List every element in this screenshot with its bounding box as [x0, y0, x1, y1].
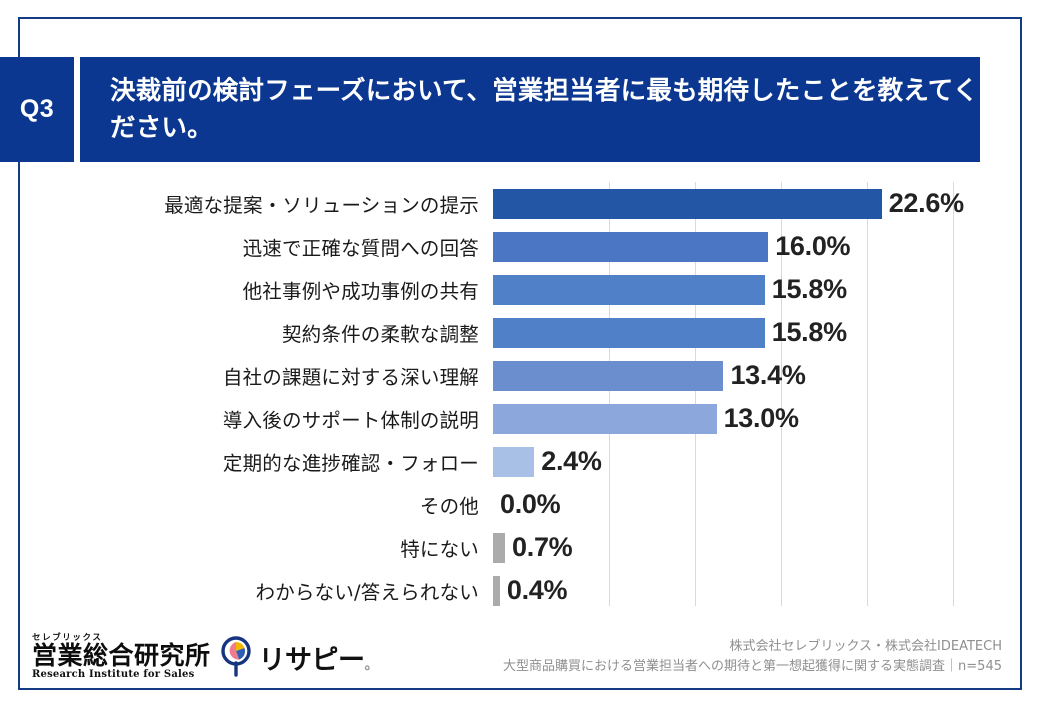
category-label: 自社の課題に対する深い理解 — [30, 361, 493, 390]
bar-value-label: 13.4% — [730, 360, 805, 391]
bar-container: 15.8% — [493, 311, 1010, 354]
source-note: 株式会社セレブリックス・株式会社IDEATECH 大型商品購買における営業担当者… — [503, 637, 1020, 677]
bar-segment — [493, 232, 768, 262]
bar-segment — [493, 318, 765, 348]
bar-value-label: 15.8% — [772, 317, 847, 348]
chart-row: 特にない0.7% — [30, 526, 1010, 569]
source-line-1: 株式会社セレブリックス・株式会社IDEATECH — [503, 637, 1002, 657]
brand-name: リサピー。 — [259, 638, 379, 677]
chart-row: 導入後のサポート体制の説明13.0% — [30, 397, 1010, 440]
category-label: 他社事例や成功事例の共有 — [30, 275, 493, 304]
bar-container: 0.7% — [493, 526, 1010, 569]
bar-value-label: 0.4% — [507, 575, 567, 606]
bar-value-label: 15.8% — [772, 274, 847, 305]
bar-value-label: 0.7% — [512, 532, 572, 563]
chart-row: 迅速で正確な質問への回答16.0% — [30, 225, 1010, 268]
bar-value-label: 16.0% — [775, 231, 850, 262]
category-label: 定期的な進捗確認・フォロー — [30, 447, 493, 476]
bar-container: 13.0% — [493, 397, 1010, 440]
bar-segment — [493, 275, 765, 305]
bar-container: 0.4% — [493, 569, 1010, 612]
chart-row: 契約条件の柔軟な調整15.8% — [30, 311, 1010, 354]
category-label: その他 — [30, 490, 493, 519]
source-line-2: 大型商品購買における営業担当者への期待と第一想起獲得に関する実態調査｜n=545 — [503, 657, 1002, 677]
bar-segment — [493, 533, 505, 563]
category-label: 最適な提案・ソリューションの提示 — [30, 189, 493, 218]
footer: セレブリックス 営業総合研究所 Research Institute for S… — [20, 625, 1020, 689]
bar-segment — [493, 189, 882, 219]
category-label: 特にない — [30, 533, 493, 562]
question-header: Q3 決裁前の検討フェーズにおいて、営業担当者に最も期待したことを教えてください… — [0, 57, 980, 162]
bar-value-label: 13.0% — [724, 403, 799, 434]
brand-name-text: リサピー — [259, 645, 365, 676]
brand-logo: セレブリックス 営業総合研究所 Research Institute for S… — [20, 634, 378, 681]
bar-value-label: 0.0% — [500, 489, 560, 520]
bar-segment — [493, 447, 534, 477]
chart-rows: 最適な提案・ソリューションの提示22.6%迅速で正確な質問への回答16.0%他社… — [30, 182, 1010, 612]
question-title-text: 決裁前の検討フェーズにおいて、営業担当者に最も期待したことを教えてください。 — [110, 73, 980, 145]
logo-english-name: Research Institute for Sales — [32, 670, 211, 680]
bar-value-label: 2.4% — [541, 446, 601, 477]
slide-root: Q3 決裁前の検討フェーズにおいて、営業担当者に最も期待したことを教えてください… — [0, 0, 1040, 720]
chart-row: わからない/答えられない0.4% — [30, 569, 1010, 612]
category-label: 迅速で正確な質問への回答 — [30, 232, 493, 261]
bar-container: 22.6% — [493, 182, 1010, 225]
logo-main-name: 営業総合研究所 — [32, 643, 211, 668]
chart-row: 定期的な進捗確認・フォロー2.4% — [30, 440, 1010, 483]
chart-row: 他社事例や成功事例の共有15.8% — [30, 268, 1010, 311]
bar-chart: 最適な提案・ソリューションの提示22.6%迅速で正確な質問への回答16.0%他社… — [30, 182, 1010, 612]
bar-container: 0.0% — [493, 483, 1010, 526]
question-number-badge: Q3 — [0, 57, 74, 162]
category-label: わからない/答えられない — [30, 576, 493, 605]
chart-row: 最適な提案・ソリューションの提示22.6% — [30, 182, 1010, 225]
bar-value-label: 22.6% — [889, 188, 964, 219]
chart-row: 自社の課題に対する深い理解13.4% — [30, 354, 1010, 397]
logo-text: セレブリックス 営業総合研究所 Research Institute for S… — [32, 634, 211, 681]
category-label: 契約条件の柔軟な調整 — [30, 318, 493, 347]
bar-segment — [493, 576, 500, 606]
bar-container: 16.0% — [493, 225, 1010, 268]
category-label: 導入後のサポート体制の説明 — [30, 404, 493, 433]
bar-container: 13.4% — [493, 354, 1010, 397]
brand-mark: 。 — [365, 657, 379, 673]
pie-chart-pin-icon — [219, 636, 253, 678]
question-title-banner: 決裁前の検討フェーズにおいて、営業担当者に最も期待したことを教えてください。 — [80, 57, 980, 162]
bar-container: 15.8% — [493, 268, 1010, 311]
bar-segment — [493, 404, 717, 434]
bar-segment — [493, 361, 723, 391]
chart-row: その他0.0% — [30, 483, 1010, 526]
bar-container: 2.4% — [493, 440, 1010, 483]
